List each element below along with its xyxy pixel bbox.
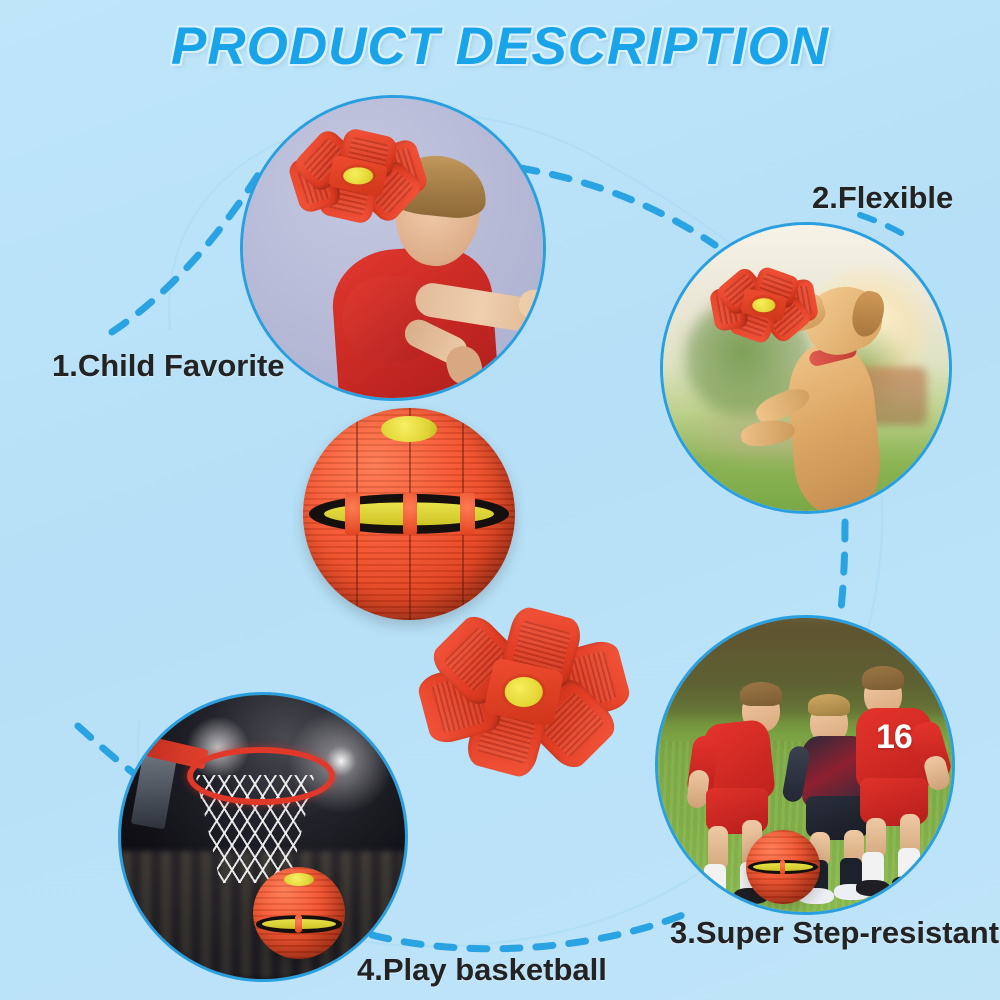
flying-disc-flower-icon (283, 133, 433, 219)
feature-label-step-resistant: 3.Super Step-resistant (670, 915, 999, 951)
jersey-number: 16 (876, 718, 912, 757)
feature-photo-play-basketball[interactable] (118, 692, 408, 982)
disc-center-hub (343, 167, 373, 184)
feature-label-child-favorite: 1.Child Favorite (52, 348, 285, 384)
product-description-infographic: PRODUCT DESCRIPTION (0, 0, 1000, 1000)
connector-4-3 (372, 912, 690, 949)
connector-1 (112, 175, 258, 332)
feature-photo-flexible[interactable] (660, 222, 952, 514)
ball-top-cap (381, 416, 437, 442)
feature-photo-step-resistant[interactable]: 16 (655, 615, 955, 915)
kid-hair (862, 666, 904, 690)
disc-center-hub (752, 298, 775, 312)
kid-shoe-left (696, 892, 730, 908)
feature-photo-child-favorite[interactable] (240, 95, 546, 401)
basketball-rim (187, 747, 335, 805)
product-ball-icon (253, 867, 345, 959)
scene-dog-catching-disc (663, 225, 949, 511)
product-disc-flower (418, 612, 630, 772)
kid-hair (808, 694, 850, 716)
kid-hair (740, 682, 782, 706)
product-ball-sphere (303, 408, 515, 620)
scene-basketball-hoop (121, 695, 405, 979)
scene-kids-playing-soccer: 16 (658, 618, 952, 912)
feature-label-flexible: 2.Flexible (812, 180, 953, 216)
kid-shoe-left (856, 880, 890, 896)
tree-line-blur (658, 618, 952, 718)
product-ball-icon (746, 830, 820, 904)
connector-2-3 (840, 522, 845, 620)
flying-disc-flower-icon (705, 271, 823, 339)
kid-shoe-right (892, 876, 926, 892)
scene-boy-throwing-disc (243, 98, 543, 398)
feature-label-play-basketball: 4.Play basketball (357, 952, 607, 988)
page-title: PRODUCT DESCRIPTION (0, 16, 1000, 77)
